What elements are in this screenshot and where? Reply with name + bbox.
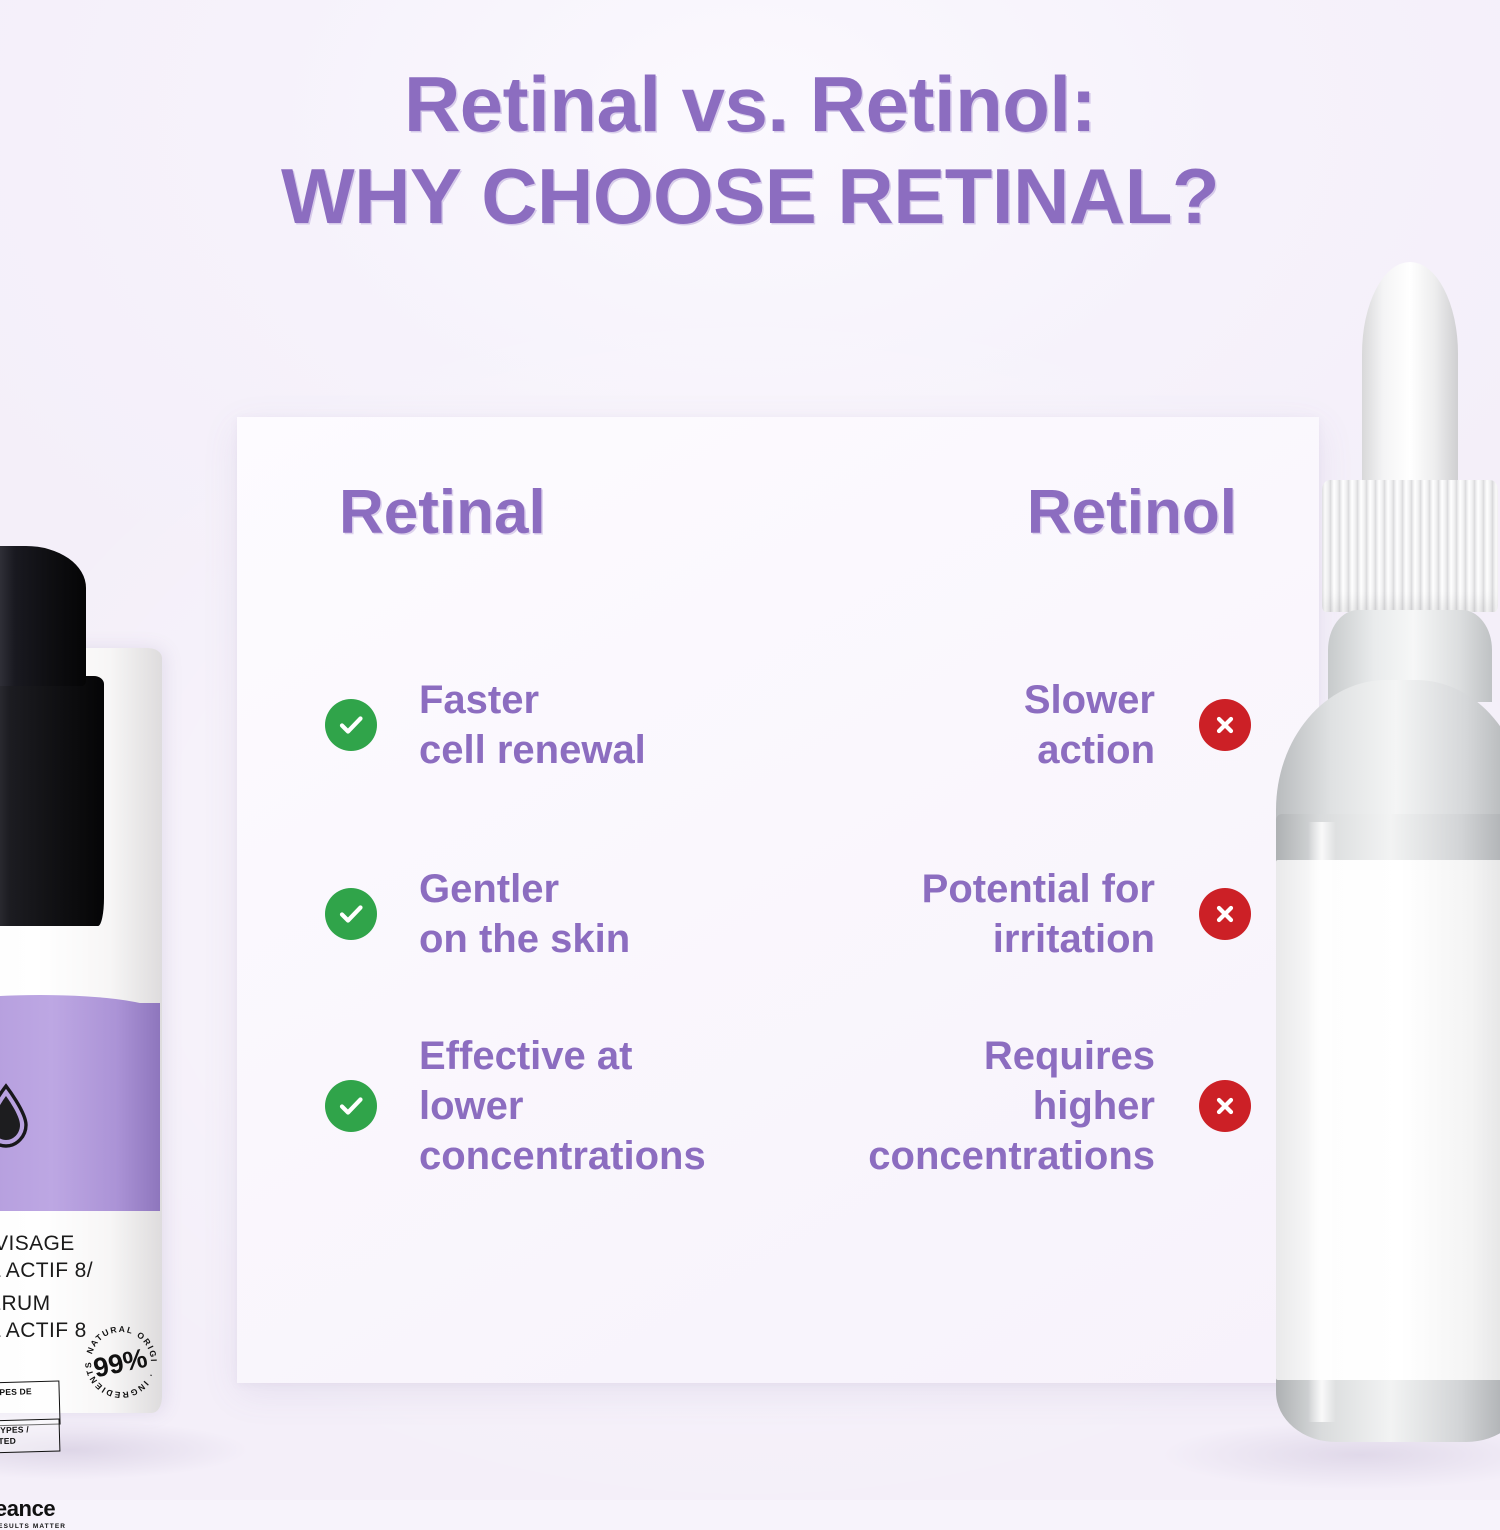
- retinol-cell: Potential for irritation: [788, 864, 1319, 964]
- check-circle-icon: [325, 1080, 377, 1132]
- droplet-icon: [0, 1083, 32, 1149]
- comparison-row: Effective at lower concentrations Requir…: [237, 1006, 1319, 1206]
- product-serum-pump-bottle: SÉRUM VISAGE RÉTINAL ACTIF 8/ FACE SERUM…: [0, 278, 222, 1413]
- retinol-cell: Requires higher concentrations: [788, 1031, 1319, 1181]
- title-line-2: WHY CHOOSE RETINAL?: [0, 150, 1500, 242]
- column-header-retinol: Retinol: [788, 477, 1319, 548]
- retinol-drawback-text: Slower action: [1024, 675, 1155, 775]
- retinol-cell: Slower action: [788, 675, 1319, 775]
- retinal-benefit-text: Effective at lower concentrations: [419, 1031, 706, 1181]
- x-circle-icon: [1199, 1080, 1251, 1132]
- pump-cap-head: [0, 546, 86, 686]
- column-header-retinal: Retinal: [237, 477, 788, 548]
- x-circle-icon: [1199, 888, 1251, 940]
- retinol-drawback-text: Potential for irritation: [922, 864, 1155, 964]
- check-circle-icon: [325, 699, 377, 751]
- comparison-card: Retinal Retinol Faster cell renewal Slow…: [237, 417, 1319, 1383]
- retinol-drawback-text: Requires higher concentrations: [868, 1031, 1155, 1181]
- x-circle-icon: [1199, 699, 1251, 751]
- dropper-ribbed-collar: [1322, 480, 1498, 612]
- page-title: Retinal vs. Retinol: WHY CHOOSE RETINAL?: [0, 58, 1500, 242]
- comparison-row: Faster cell renewal Slower action: [237, 629, 1319, 821]
- comparison-row: Gentler on the skin Potential for irrita…: [237, 821, 1319, 1006]
- comparison-rows: Faster cell renewal Slower action: [237, 629, 1319, 1206]
- bottle-label-english: FACE SERUM RETINAL ACTIF 8: [0, 1290, 87, 1344]
- bottle-label-french: SÉRUM VISAGE RÉTINAL ACTIF 8/: [0, 1230, 93, 1284]
- retinal-cell: Gentler on the skin: [237, 864, 788, 964]
- check-circle-icon: [325, 888, 377, 940]
- dropper-bulb: [1362, 262, 1458, 490]
- pump-cap-base: [0, 676, 104, 926]
- bottle-highlight: [1308, 822, 1336, 1422]
- claim-box-english: SUITABLE FOR ALL SKIN TYPES / DERMATOLOG…: [0, 1418, 60, 1456]
- title-line-1: Retinal vs. Retinol:: [0, 58, 1500, 150]
- retinal-cell: Effective at lower concentrations: [237, 1031, 788, 1181]
- brand-tagline: BECAUSE RESULTS MATTER: [0, 1523, 66, 1530]
- product-dropper-bottle: [1250, 262, 1500, 1462]
- retinal-benefit-text: Gentler on the skin: [419, 864, 630, 964]
- retinal-cell: Faster cell renewal: [237, 675, 788, 775]
- comparison-column-headers: Retinal Retinol: [237, 477, 1319, 548]
- brand-logo: Skineance BECAUSE RESULTS MATTER: [0, 1496, 66, 1530]
- retinal-benefit-text: Faster cell renewal: [419, 675, 646, 775]
- svg-text:99%: 99%: [91, 1343, 150, 1384]
- natural-origin-badge: NATURAL ORIGIN · INGREDIENTS · 99%: [79, 1320, 163, 1404]
